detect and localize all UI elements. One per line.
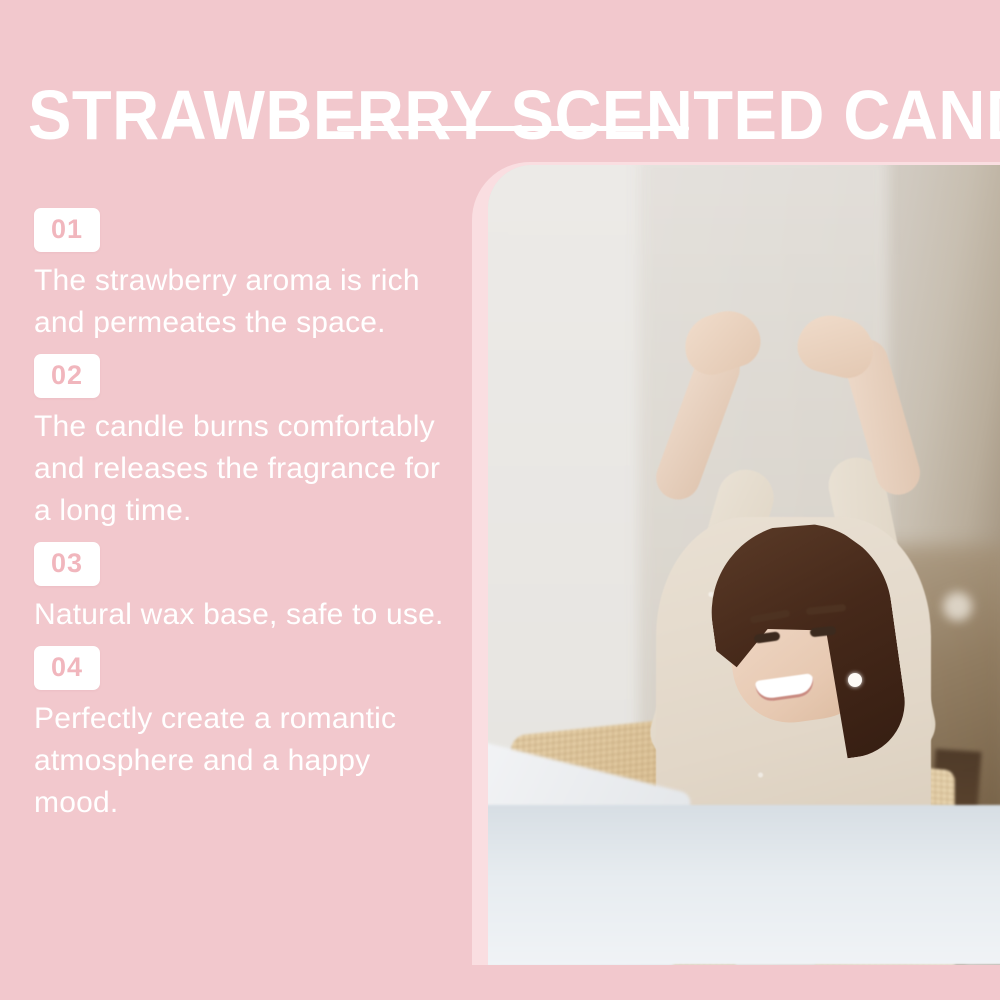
feature-badge-01: 01 [34, 208, 100, 252]
bottom-pink-strip [0, 965, 1000, 1000]
feature-item-02: 02 The candle burns comfortably and rele… [34, 354, 464, 532]
feature-text-04: Perfectly create a romantic atmosphere a… [34, 698, 459, 824]
product-poster: STRAWBERRY SCENTED CANDLES 01 The strawb… [0, 0, 1000, 1000]
feature-item-01: 01 The strawberry aroma is rich and perm… [34, 208, 464, 344]
feature-badge-03: 03 [34, 542, 100, 586]
feature-item-03: 03 Natural wax base, safe to use. [34, 542, 464, 636]
hand-left [677, 303, 767, 382]
title-divider [337, 126, 689, 131]
photo-scene [488, 165, 1000, 965]
earring [848, 673, 862, 687]
lifestyle-photo [488, 165, 1000, 965]
page-title: STRAWBERRY SCENTED CANDLES [28, 77, 912, 153]
feature-text-03: Natural wax base, safe to use. [34, 594, 459, 636]
feature-list: 01 The strawberry aroma is rich and perm… [34, 208, 464, 834]
feature-badge-02: 02 [34, 354, 100, 398]
feature-item-04: 04 Perfectly create a romantic atmospher… [34, 646, 464, 824]
desk-surface [488, 805, 1000, 965]
feature-badge-04: 04 [34, 646, 100, 690]
feature-text-02: The candle burns comfortably and release… [34, 406, 459, 532]
feature-text-01: The strawberry aroma is rich and permeat… [34, 260, 459, 344]
